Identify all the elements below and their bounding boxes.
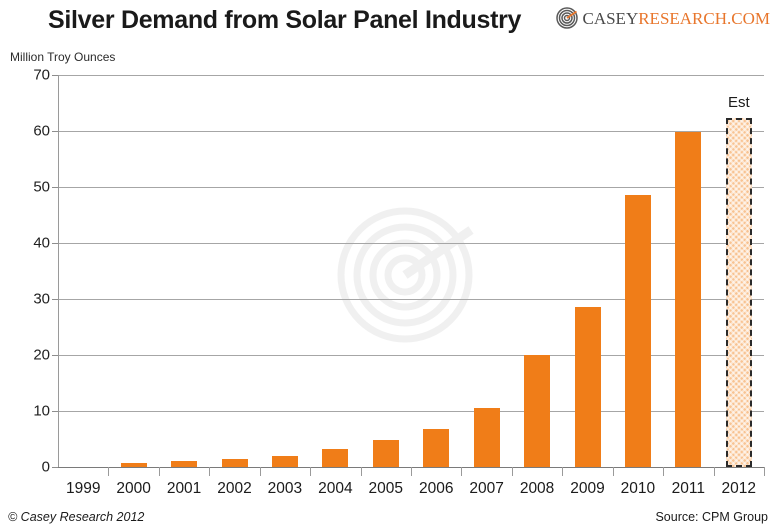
bar-estimate-2012 [726, 118, 752, 467]
x-tick-label-1999: 1999 [66, 480, 100, 498]
y-tick-mark [52, 243, 58, 244]
y-tick-mark [52, 299, 58, 300]
x-tick-label-2011: 2011 [672, 480, 705, 498]
plot-area [58, 75, 764, 467]
y-tick-label: 10 [6, 403, 50, 420]
x-tick-mark [209, 467, 210, 476]
gridline [58, 243, 764, 244]
x-tick-mark [663, 467, 664, 476]
x-tick-mark [562, 467, 563, 476]
y-tick-mark [52, 467, 58, 468]
bar-2005 [373, 440, 399, 467]
bar-2010 [625, 195, 651, 467]
x-tick-label-2008: 2008 [520, 480, 554, 498]
y-tick-mark [52, 75, 58, 76]
gridline [58, 299, 764, 300]
x-tick-label-2002: 2002 [217, 480, 251, 498]
brand-name-primary: CASEY [582, 9, 638, 28]
footer-source: Source: CPM Group [655, 510, 768, 524]
gridline [58, 411, 764, 412]
bar-2004 [322, 449, 348, 467]
x-tick-mark [461, 467, 462, 476]
bar-2003 [272, 456, 298, 467]
gridline [58, 75, 764, 76]
y-axis-line [58, 75, 59, 468]
bar-2007 [474, 408, 500, 467]
y-tick-label: 70 [6, 67, 50, 84]
gridline [58, 131, 764, 132]
y-tick-label: 40 [6, 235, 50, 252]
x-tick-label-2007: 2007 [469, 480, 503, 498]
x-tick-label-2004: 2004 [318, 480, 352, 498]
x-tick-label-2009: 2009 [570, 480, 604, 498]
y-tick-label: 20 [6, 347, 50, 364]
page-title: Silver Demand from Solar Panel Industry [48, 6, 521, 35]
x-tick-label-2001: 2001 [167, 480, 201, 498]
x-tick-mark [613, 467, 614, 476]
bar-2008 [524, 355, 550, 467]
x-tick-mark [310, 467, 311, 476]
x-tick-label-2012: 2012 [722, 480, 756, 498]
y-tick-mark [52, 187, 58, 188]
gridline [58, 187, 764, 188]
x-tick-mark [361, 467, 362, 476]
y-axis-title: Million Troy Ounces [10, 50, 115, 64]
bar-2009 [575, 307, 601, 467]
x-tick-mark [764, 467, 765, 476]
x-tick-mark [108, 467, 109, 476]
x-tick-label-2005: 2005 [369, 480, 403, 498]
y-tick-label: 50 [6, 179, 50, 196]
gridline [58, 355, 764, 356]
spiral-target-icon [556, 7, 578, 29]
y-tick-label: 60 [6, 123, 50, 140]
x-tick-label-2010: 2010 [621, 480, 655, 498]
y-tick-mark [52, 355, 58, 356]
x-tick-mark [714, 467, 715, 476]
y-tick-mark [52, 131, 58, 132]
brand-name-secondary: RESEARCH.COM [638, 9, 770, 28]
x-tick-mark [260, 467, 261, 476]
bar-2011 [675, 132, 701, 467]
x-tick-mark [159, 467, 160, 476]
x-tick-mark [512, 467, 513, 476]
y-tick-mark [52, 411, 58, 412]
chart-container: Silver Demand from Solar Panel Industry … [0, 0, 776, 530]
bar-2006 [423, 429, 449, 467]
y-tick-label: 30 [6, 291, 50, 308]
footer-copyright: © Casey Research 2012 [8, 510, 144, 524]
brand-logo[interactable]: CASEYRESEARCH.COM [556, 7, 770, 29]
estimate-annotation-label: Est [728, 94, 750, 111]
bar-2002 [222, 459, 248, 467]
x-tick-label-2000: 2000 [116, 480, 150, 498]
x-tick-label-2006: 2006 [419, 480, 453, 498]
x-tick-label-2003: 2003 [268, 480, 302, 498]
x-tick-mark [411, 467, 412, 476]
y-tick-label: 0 [6, 459, 50, 476]
